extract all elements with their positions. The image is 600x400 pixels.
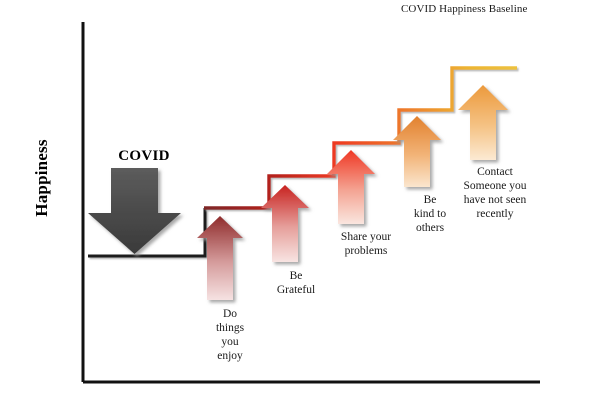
step-label-line: Someone you	[440, 179, 550, 193]
step-label-line: enjoy	[184, 349, 276, 363]
step-label-line: you	[184, 335, 276, 349]
covid-annotation-label: COVID	[104, 148, 184, 165]
step-label-line: Grateful	[248, 283, 344, 297]
step-label-line: Do	[184, 307, 276, 321]
chart-canvas: COVID Happiness Baseline Happiness COVID…	[0, 0, 600, 400]
step-arrow-contact-someone	[458, 85, 508, 160]
step-label-line: others	[384, 221, 476, 235]
step-label-line: recently	[440, 207, 550, 221]
step-label-line: problems	[316, 244, 416, 258]
legend-label: COVID Happiness Baseline	[401, 3, 527, 15]
step-label-line: Be	[248, 269, 344, 283]
step-label-do-things-you-enjoy: Do things you enjoy	[184, 307, 276, 363]
step-label-contact-someone: Contact Someone you have not seen recent…	[440, 165, 550, 221]
y-axis-label: Happiness	[32, 118, 52, 238]
covid-down-arrow	[88, 168, 181, 254]
step-label-line: have not seen	[440, 193, 550, 207]
step-label-be-grateful: Be Grateful	[248, 269, 344, 297]
step-label-line: things	[184, 321, 276, 335]
step-label-line: Contact	[440, 165, 550, 179]
